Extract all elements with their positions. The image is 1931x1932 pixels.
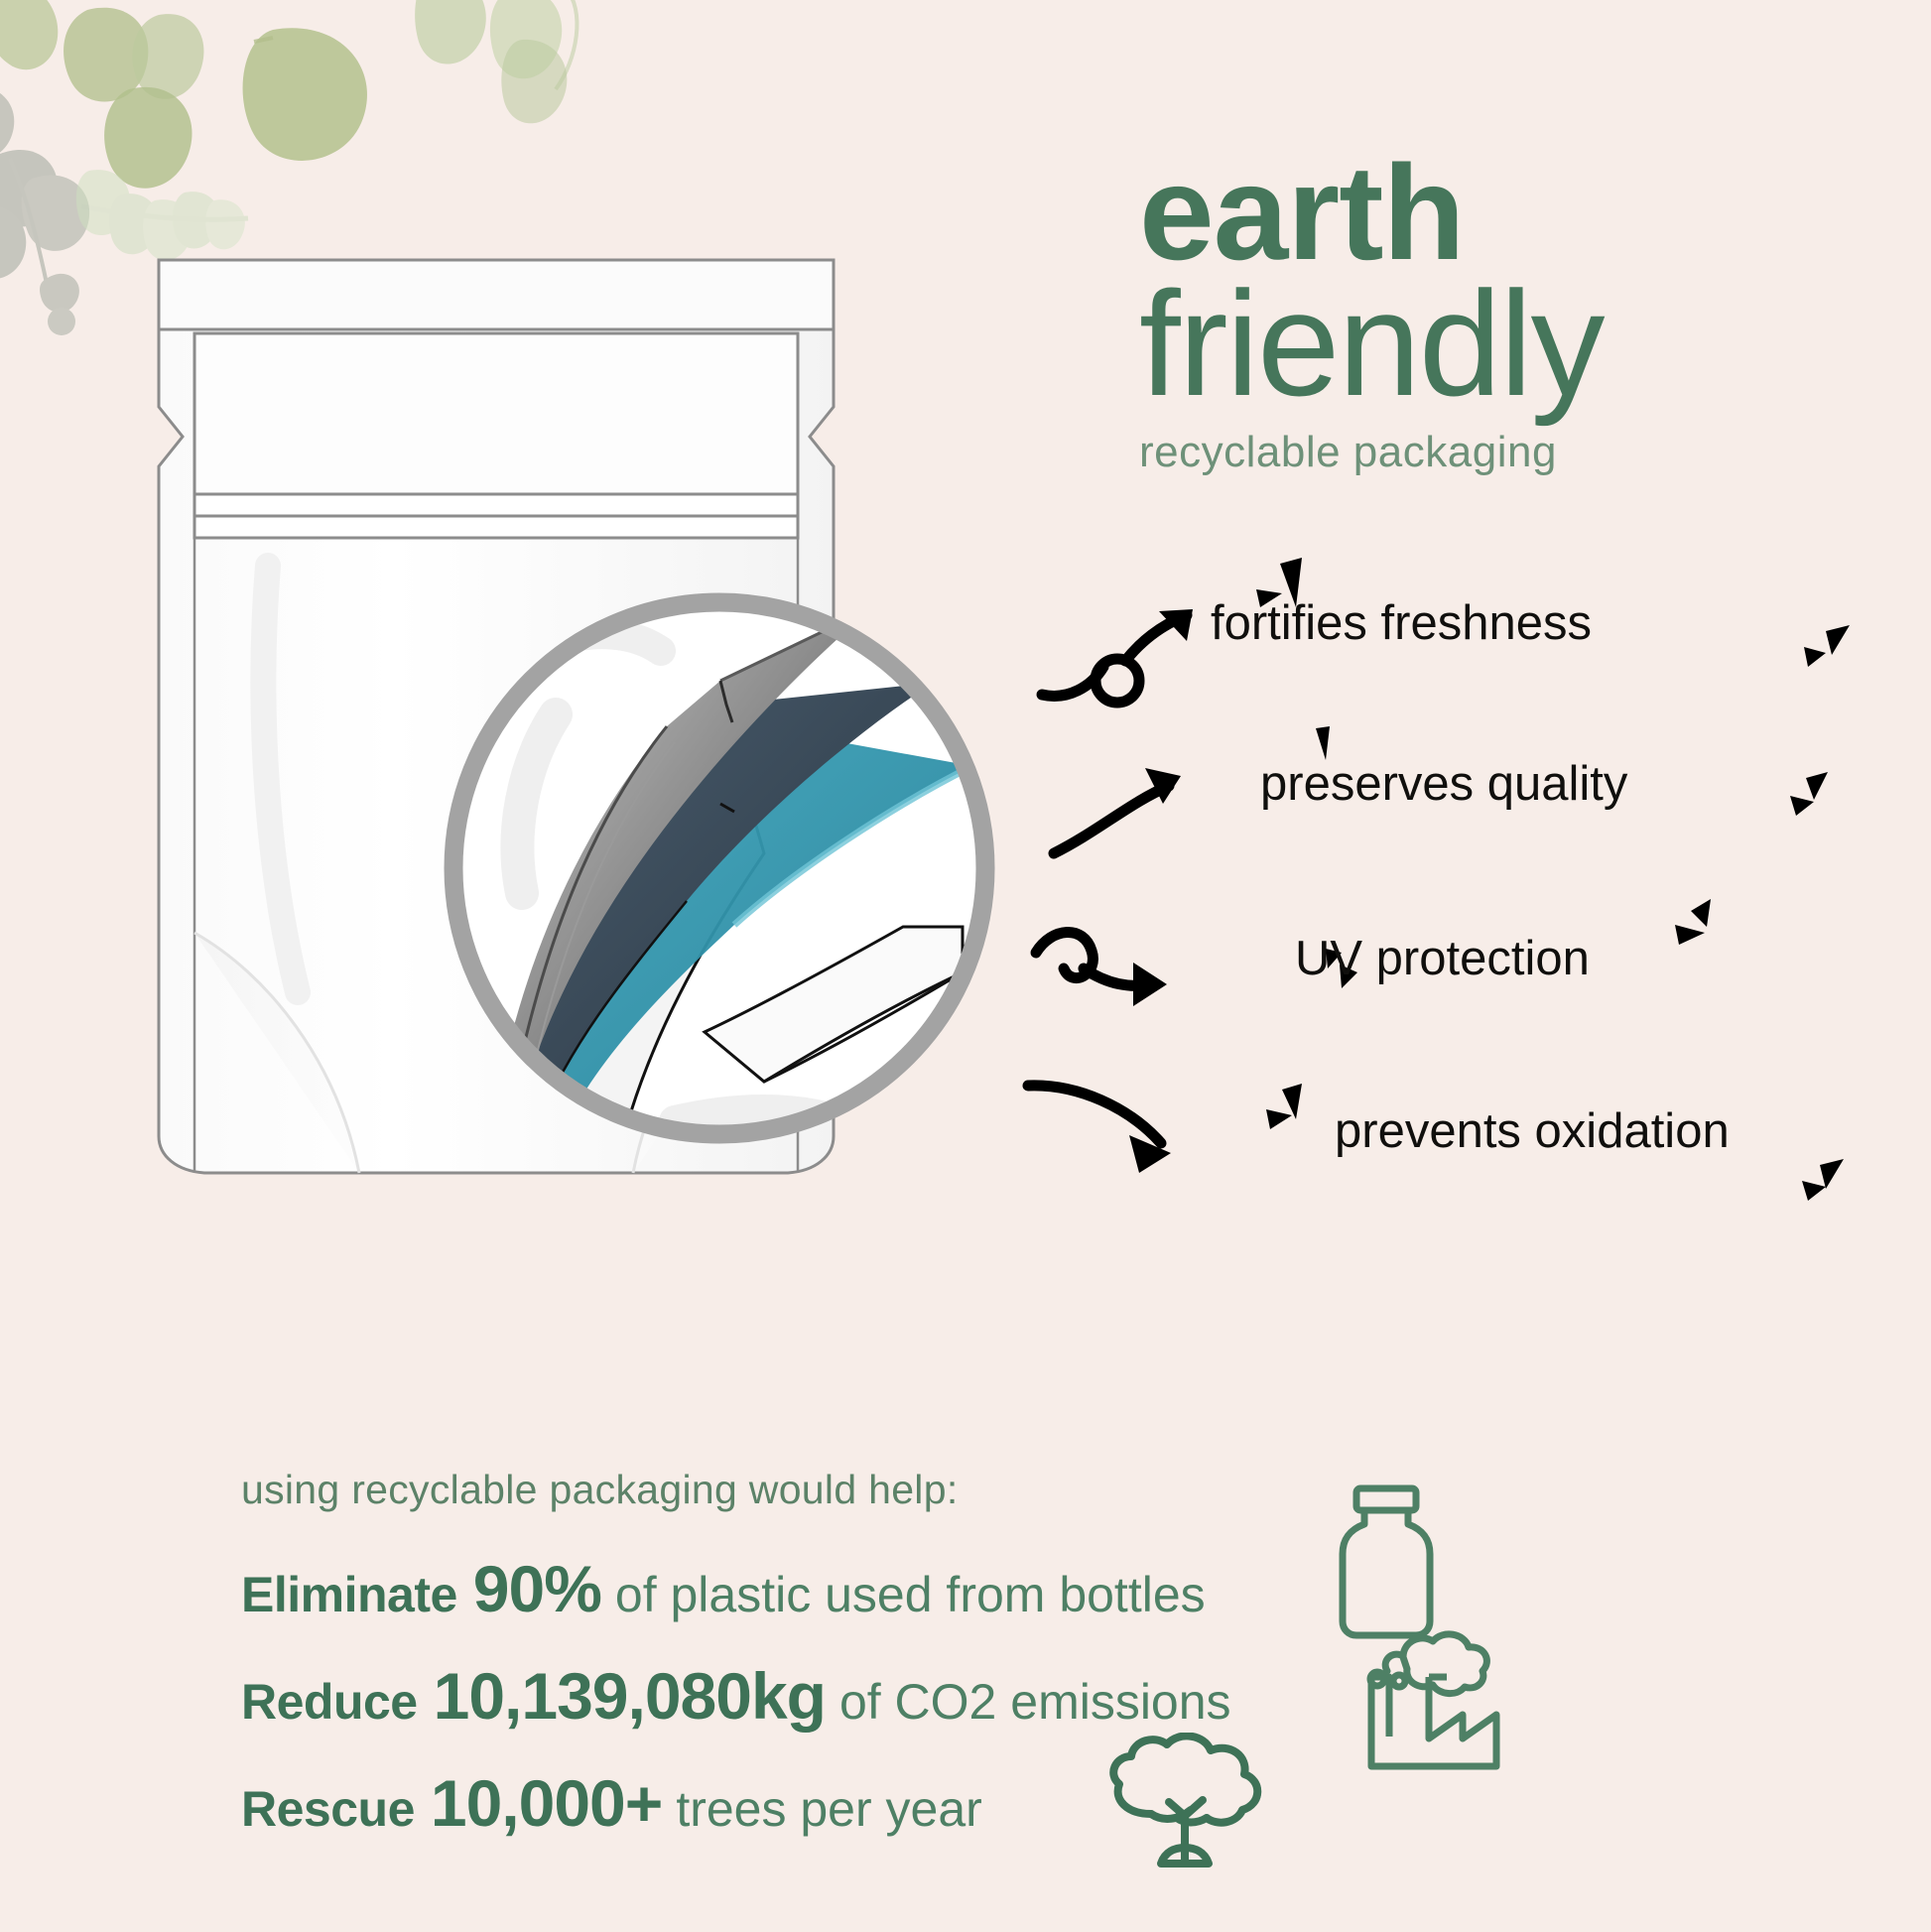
- bottle-icon: [1327, 1482, 1446, 1641]
- stat-verb: Rescue: [241, 1780, 415, 1838]
- tree-icon: [1099, 1733, 1278, 1881]
- feature-label: fortifies freshness: [1211, 595, 1592, 651]
- stat-tail: of plastic used from bottles: [615, 1566, 1206, 1623]
- layer-cross-section-magnifier: [437, 556, 1002, 1181]
- stats-intro-text: using recyclable packaging would help:: [241, 1467, 1730, 1513]
- feature-label: preserves quality: [1260, 756, 1627, 812]
- stat-verb: Reduce: [241, 1673, 418, 1731]
- stat-row-eliminate: Eliminate 90% of plastic used from bottl…: [241, 1551, 1730, 1626]
- feature-row-uv-protection: UV protection: [1131, 893, 1915, 1062]
- feature-row-preserves-quality: preserves quality: [1131, 724, 1915, 893]
- feature-label: prevents oxidation: [1335, 1103, 1730, 1159]
- feature-callout-list: fortifies freshness preserves quality: [1131, 556, 1915, 1230]
- stat-tail: trees per year: [676, 1780, 981, 1838]
- headline-block: earth friendly recyclable packaging: [1139, 149, 1893, 477]
- infographic-canvas: earth friendly recyclable packaging: [0, 0, 1931, 1932]
- feature-label: UV protection: [1295, 931, 1590, 986]
- headline-line-earth: earth: [1139, 149, 1893, 277]
- feature-row-fortifies-freshness: fortifies freshness: [1131, 556, 1915, 724]
- stat-number: 10,139,080kg: [434, 1658, 826, 1734]
- feature-row-prevents-oxidation: prevents oxidation: [1131, 1062, 1915, 1230]
- stat-number: 10,000+: [431, 1765, 662, 1841]
- headline-subtitle: recyclable packaging: [1139, 428, 1893, 477]
- headline-line-friendly: friendly: [1139, 269, 1893, 418]
- factory-icon: [1359, 1623, 1508, 1782]
- stat-tail: of CO2 emissions: [839, 1673, 1231, 1731]
- stat-verb: Eliminate: [241, 1566, 457, 1623]
- stat-number: 90%: [473, 1551, 601, 1626]
- curved-arrow-icon: [1022, 1062, 1350, 1230]
